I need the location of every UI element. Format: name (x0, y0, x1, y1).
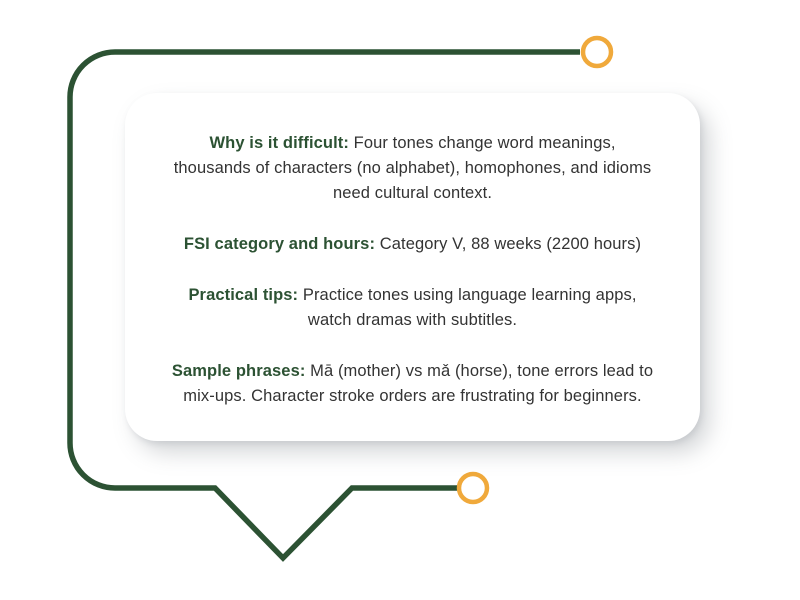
paragraph-lead-label: Practical tips: (188, 286, 298, 304)
callout-paragraph-difficulty: Why is it difficult: Four tones change w… (169, 131, 656, 206)
circle-node-icon-bottom (459, 474, 487, 502)
paragraph-lead-label: Why is it difficult: (209, 134, 349, 152)
callout-scene: Why is it difficult: Four tones change w… (0, 0, 800, 600)
callout-card-body: Why is it difficult: Four tones change w… (169, 131, 656, 409)
paragraph-lead-label: Sample phrases: (172, 362, 306, 380)
paragraph-body-text: Category V, 88 weeks (2200 hours) (375, 235, 641, 253)
callout-paragraph-practical-tips: Practical tips: Practice tones using lan… (169, 283, 656, 333)
callout-paragraph-sample-phrases: Sample phrases: Mā (mother) vs mǎ (horse… (169, 359, 656, 409)
paragraph-lead-label: FSI category and hours: (184, 235, 375, 253)
callout-card: Why is it difficult: Four tones change w… (125, 93, 700, 441)
paragraph-body-text: Practice tones using language learning a… (298, 286, 636, 329)
callout-paragraph-fsi-category: FSI category and hours: Category V, 88 w… (169, 232, 656, 257)
circle-node-icon-top (583, 38, 611, 66)
